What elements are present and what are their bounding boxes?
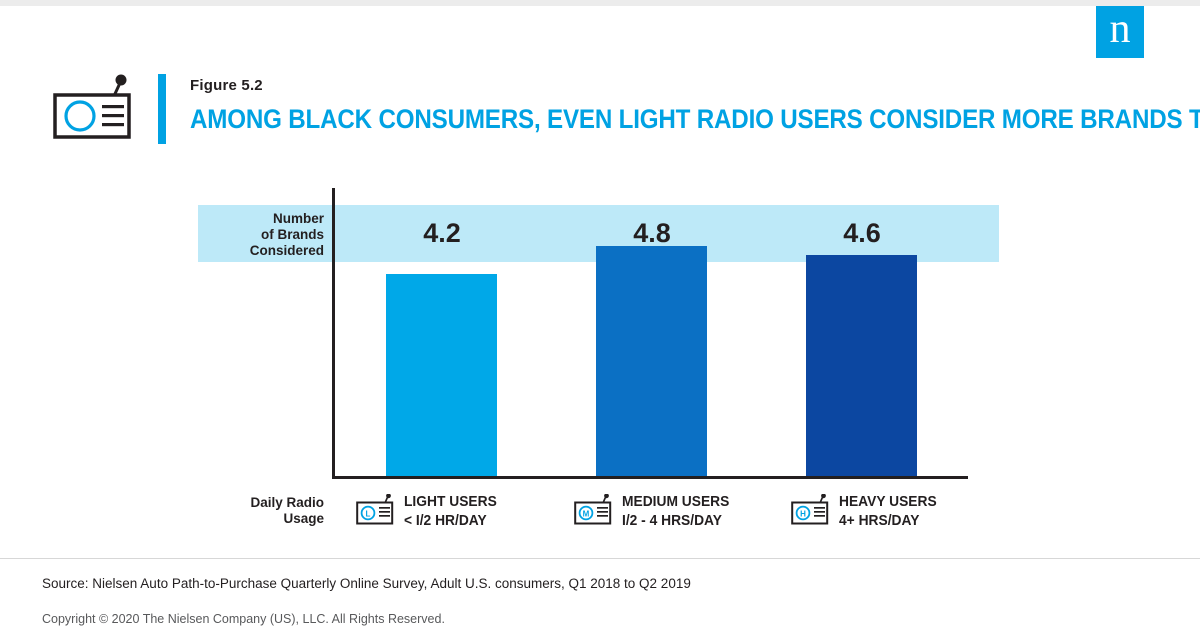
x-axis-caption-line-2: Usage bbox=[196, 511, 324, 527]
category-medium-users-text: MEDIUM USERS I/2 - 4 HRS/DAY bbox=[622, 492, 729, 530]
footer-divider bbox=[0, 558, 1200, 559]
bar-medium-users bbox=[596, 246, 707, 476]
category-heavy-users-text: HEAVY USERS 4+ HRS/DAY bbox=[839, 492, 937, 530]
x-axis-line bbox=[332, 476, 968, 479]
radio-heavy-icon: H bbox=[791, 494, 831, 526]
figure-page: n Figure 5.2 AMONG BLACK CONSUMERS, EVEN… bbox=[0, 0, 1200, 640]
svg-text:M: M bbox=[583, 509, 590, 518]
bar-light-users bbox=[386, 274, 497, 476]
svg-text:L: L bbox=[366, 509, 371, 518]
source-note: Source: Nielsen Auto Path-to-Purchase Qu… bbox=[42, 576, 691, 591]
radio-medium-icon: M bbox=[574, 494, 614, 526]
bar-heavy-users bbox=[806, 255, 917, 476]
radio-light-icon: L bbox=[356, 494, 396, 526]
category-heavy-users-name: HEAVY USERS bbox=[839, 492, 937, 511]
y-axis-line bbox=[332, 188, 335, 479]
svg-text:H: H bbox=[800, 509, 806, 518]
x-axis-caption-line-1: Daily Radio bbox=[196, 495, 324, 511]
category-light-users-text: LIGHT USERS < I/2 HR/DAY bbox=[404, 492, 497, 530]
category-light-users-detail: < I/2 HR/DAY bbox=[404, 511, 497, 530]
category-medium-users-detail: I/2 - 4 HRS/DAY bbox=[622, 511, 729, 530]
category-light-users-name: LIGHT USERS bbox=[404, 492, 497, 511]
category-medium-users-name: MEDIUM USERS bbox=[622, 492, 729, 511]
x-axis-caption: Daily Radio Usage bbox=[196, 495, 324, 527]
category-heavy-users-detail: 4+ HRS/DAY bbox=[839, 511, 937, 530]
bars-layer bbox=[0, 0, 1200, 476]
copyright-note: Copyright © 2020 The Nielsen Company (US… bbox=[42, 612, 445, 626]
